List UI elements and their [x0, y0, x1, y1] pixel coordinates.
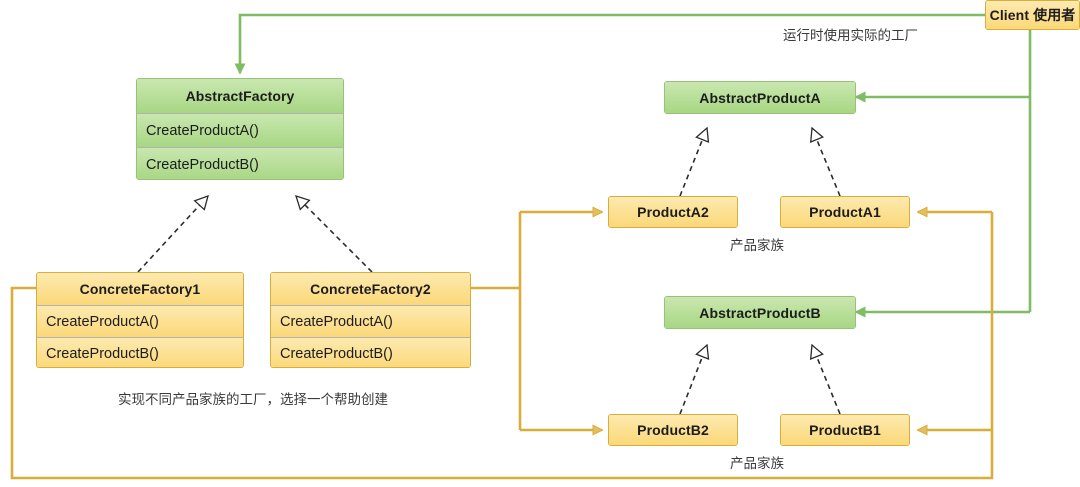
class-name-producta2: ProductA2	[609, 197, 737, 227]
class-member-concretefactory1-0: CreateProductA()	[37, 305, 243, 337]
annotation-family-b-note: 产品家族	[730, 452, 784, 472]
class-box-concretefactory1[interactable]: ConcreteFactory1 CreateProductA() Create…	[36, 272, 244, 368]
annotation-client-note: 运行时使用实际的工厂	[783, 24, 918, 44]
class-box-productb2[interactable]: ProductB2	[608, 414, 738, 446]
class-name-abstractproductb: AbstractProductB	[665, 297, 855, 328]
edge-realization-factories	[138, 196, 372, 272]
class-box-abstractproductb[interactable]: AbstractProductB	[664, 296, 856, 329]
class-box-producta2[interactable]: ProductA2	[608, 196, 738, 228]
class-member-abstractfactory-0: CreateProductA()	[137, 113, 343, 147]
class-member-concretefactory2-0: CreateProductA()	[271, 305, 470, 337]
class-member-concretefactory2-1: CreateProductB()	[271, 337, 470, 368]
class-member-abstractfactory-1: CreateProductB()	[137, 147, 343, 180]
class-box-productb1[interactable]: ProductB1	[780, 414, 910, 446]
class-name-producta1: ProductA1	[781, 197, 909, 227]
class-name-abstractfactory: AbstractFactory	[137, 79, 343, 113]
class-name-concretefactory1: ConcreteFactory1	[37, 273, 243, 305]
annotation-family-a-note: 产品家族	[730, 234, 784, 254]
class-box-client[interactable]: Client 使用者	[985, 0, 1080, 30]
edge-realization-producta	[680, 128, 840, 196]
class-box-abstractproducta[interactable]: AbstractProductA	[664, 81, 856, 114]
class-name-client: Client 使用者	[986, 1, 1079, 29]
annotation-factory-note: 实现不同产品家族的工厂，选择一个帮助创建	[118, 388, 388, 408]
class-box-concretefactory2[interactable]: ConcreteFactory2 CreateProductA() Create…	[270, 272, 471, 368]
class-name-abstractproducta: AbstractProductA	[665, 82, 855, 113]
edge-realization-productb	[680, 345, 840, 414]
class-box-producta1[interactable]: ProductA1	[780, 196, 910, 228]
edge-concretefactory2-to-products	[471, 212, 602, 430]
class-member-concretefactory1-1: CreateProductB()	[37, 337, 243, 368]
class-name-productb1: ProductB1	[781, 415, 909, 445]
connector-layer	[0, 0, 1080, 487]
edge-client-to-abstractproducts	[856, 30, 1030, 312]
uml-diagram-canvas: Client 使用者 AbstractFactory CreateProduct…	[0, 0, 1080, 487]
class-box-abstractfactory[interactable]: AbstractFactory CreateProductA() CreateP…	[136, 78, 344, 180]
class-name-concretefactory2: ConcreteFactory2	[271, 273, 470, 305]
class-name-productb2: ProductB2	[609, 415, 737, 445]
